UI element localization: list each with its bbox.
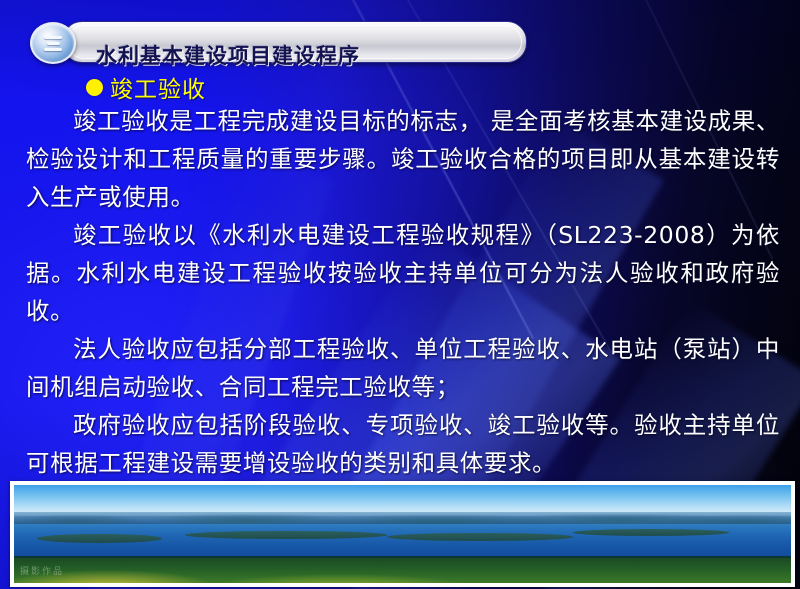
menu-bar-line: [44, 48, 62, 51]
bullet-dot-icon: [86, 79, 103, 96]
photo-island: [185, 531, 387, 539]
lake-reservoir-panorama-photo: 摄影作品: [14, 485, 791, 583]
menu-bar-line: [44, 36, 62, 39]
presentation-slide: 水利基本建设项目建设程序 竣工验收 竣工验收是工程完成建设目标的标志， 是全面考…: [0, 0, 800, 589]
photo-watermark: 摄影作品: [20, 564, 64, 577]
section-heading-label: 竣工验收: [110, 70, 206, 104]
section-heading: 竣工验收: [86, 70, 206, 104]
photo-island: [387, 533, 573, 541]
photo-foreground-vegetation: [14, 558, 791, 583]
paragraph: 法人验收应包括分部工程验收、单位工程验收、水电站（泵站）中间机组启动验收、合同工…: [26, 330, 780, 406]
paragraph: 政府验收应包括阶段验收、专项验收、竣工验收等。验收主持单位可根据工程建设需要增设…: [26, 406, 780, 482]
body-text: 竣工验收是工程完成建设目标的标志， 是全面考核基本建设成果、检验设计和工程质量的…: [26, 102, 780, 482]
page-title: 水利基本建设项目建设程序: [96, 40, 360, 70]
photo-island: [573, 529, 728, 536]
paragraph: 竣工验收是工程完成建设目标的标志， 是全面考核基本建设成果、检验设计和工程质量的…: [26, 102, 780, 216]
photo-island: [37, 534, 161, 543]
photo-frame: 摄影作品: [10, 481, 795, 587]
paragraph: 竣工验收以《水利水电建设工程验收规程》（SL223-2008）为依据。水利水电建…: [26, 216, 780, 330]
menu-bar-line: [47, 42, 60, 45]
slide-header: 水利基本建设项目建设程序: [0, 18, 800, 64]
hamburger-menu-icon: [30, 22, 76, 64]
